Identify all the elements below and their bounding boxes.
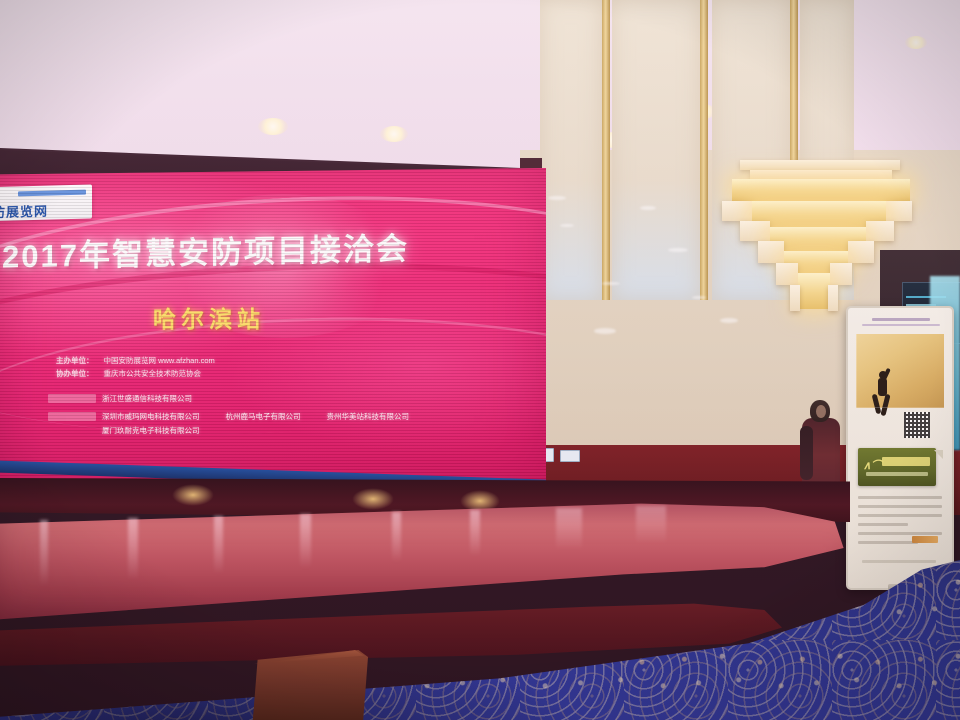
wall-sign (560, 450, 580, 462)
banner-badge (912, 536, 938, 543)
sponsor-company: 贵州华美站科技有限公司 (327, 412, 410, 421)
riser-uplight (352, 488, 394, 510)
sconce-tier-5-right (848, 241, 874, 263)
banner-header-text (854, 318, 946, 330)
conference-hall-photo: ∧⌒ AN 安防展览网 2017年智慧安防项目接洽会 哈尔滨站 主办单位：中国安… (0, 0, 960, 720)
ceiling-downlight (258, 118, 288, 135)
sponsor-row: 深圳市威玛网电科技有限公司杭州鹿马电子有限公司贵州华美站科技有限公司 (102, 410, 409, 423)
wall-reflection (594, 328, 616, 334)
sponsor-company: 深圳市威玛网电科技有限公司 (102, 412, 200, 421)
credit-row: 主办单位：中国安防展览网 www.afzhan.com (56, 354, 526, 367)
organizer-logo-bar (18, 190, 86, 197)
sconce-tier-3-left (722, 201, 752, 221)
led-display-screen: AN 安防展览网 2017年智慧安防项目接洽会 哈尔滨站 主办单位：中国安防展览… (0, 168, 546, 488)
sconce-tier-6-right (830, 263, 852, 285)
sponsor-row: 浙江世盛通信科技有限公司 (102, 392, 192, 405)
sconce-light-core (798, 273, 830, 309)
wall-reflection (560, 224, 574, 227)
wall-panel (540, 0, 602, 300)
sponsor-company: 杭州鹿马电子有限公司 (226, 412, 301, 421)
sconce-base-left (790, 285, 800, 311)
wall-panel (612, 0, 700, 300)
sconce-tier-4-left (740, 221, 770, 241)
climber-leg-back (880, 394, 890, 417)
sconce-tier-6-left (776, 263, 798, 285)
wall-reflection (720, 318, 738, 323)
stage-reflection (40, 520, 48, 586)
qr-code-icon[interactable] (904, 412, 930, 438)
stage-reflection (556, 508, 582, 550)
logo-mark-icon: ∧⌒ (863, 457, 882, 473)
climber-arm-up (881, 368, 891, 382)
wall-divider-gold (700, 0, 708, 300)
climber-torso (878, 378, 887, 396)
ceiling-downlight (380, 126, 408, 142)
credit-value: 中国安防展览网 www.afzhan.com (104, 356, 215, 365)
stage-reflection (470, 510, 480, 556)
sconce-base-right (828, 285, 838, 311)
banner-corner-fold-icon (934, 450, 943, 459)
banner-header-line-2 (862, 324, 940, 326)
organizer-logo: AN 安防展览网 (0, 184, 92, 221)
sponsor-label-box (48, 394, 96, 403)
banner-header-line-1 (872, 318, 930, 321)
credit-label: 主办单位： (56, 356, 94, 365)
sponsor-company: 厦门玖耐克电子科技有限公司 (102, 426, 200, 435)
riser-uplight (172, 484, 214, 506)
stage-reflection (214, 516, 223, 574)
climber-figure (870, 368, 896, 418)
sponsor-company: 浙江世盛通信科技有限公司 (102, 394, 192, 403)
wall-reflection (548, 196, 566, 200)
person-face (816, 405, 826, 418)
wall-divider-gold (602, 0, 610, 300)
climber-head (879, 371, 887, 379)
stage-reflection (300, 514, 311, 568)
credit-label: 协办单位： (56, 369, 94, 378)
step-block (248, 650, 368, 720)
stage-reflection (636, 506, 666, 544)
stage-reflection (392, 512, 401, 562)
credit-value: 重庆市公共安全技术防范协会 (104, 369, 202, 378)
logo-wordmark (882, 457, 930, 466)
wall-reflection (602, 282, 620, 285)
sponsor-label-box (48, 412, 96, 421)
wall-reflection (668, 248, 688, 252)
organizer-logo-chinese: 安防展览网 (0, 201, 48, 222)
event-subtitle-city: 哈尔滨站 (0, 300, 424, 334)
sconce-tier-5-left (758, 241, 784, 263)
logo-tagline (866, 472, 928, 476)
sconce-tier-top (740, 160, 900, 170)
wall-reflection (692, 296, 706, 299)
sconce-light-band-1 (732, 179, 910, 201)
person-arm (800, 426, 813, 480)
banner-footer-text (862, 560, 936, 563)
climber-leg-front (872, 394, 882, 415)
sponsor-row: 厦门玖耐克电子科技有限公司 (102, 424, 200, 437)
sconce-tier-4-right (866, 221, 894, 241)
credits-block: 主办单位：中国安防展览网 www.afzhan.com 协办单位：重庆市公共安全… (56, 354, 526, 380)
sconce-tier-2 (750, 170, 892, 179)
ceiling-downlight (905, 36, 927, 49)
stage-reflection (128, 518, 138, 580)
banner-climber-photo (856, 334, 944, 408)
stage (0, 478, 870, 668)
sconce-tier-3-right (886, 201, 912, 221)
wall-reflection (640, 206, 656, 210)
credit-row: 协办单位：重庆市公共安全技术防范协会 (56, 367, 526, 380)
